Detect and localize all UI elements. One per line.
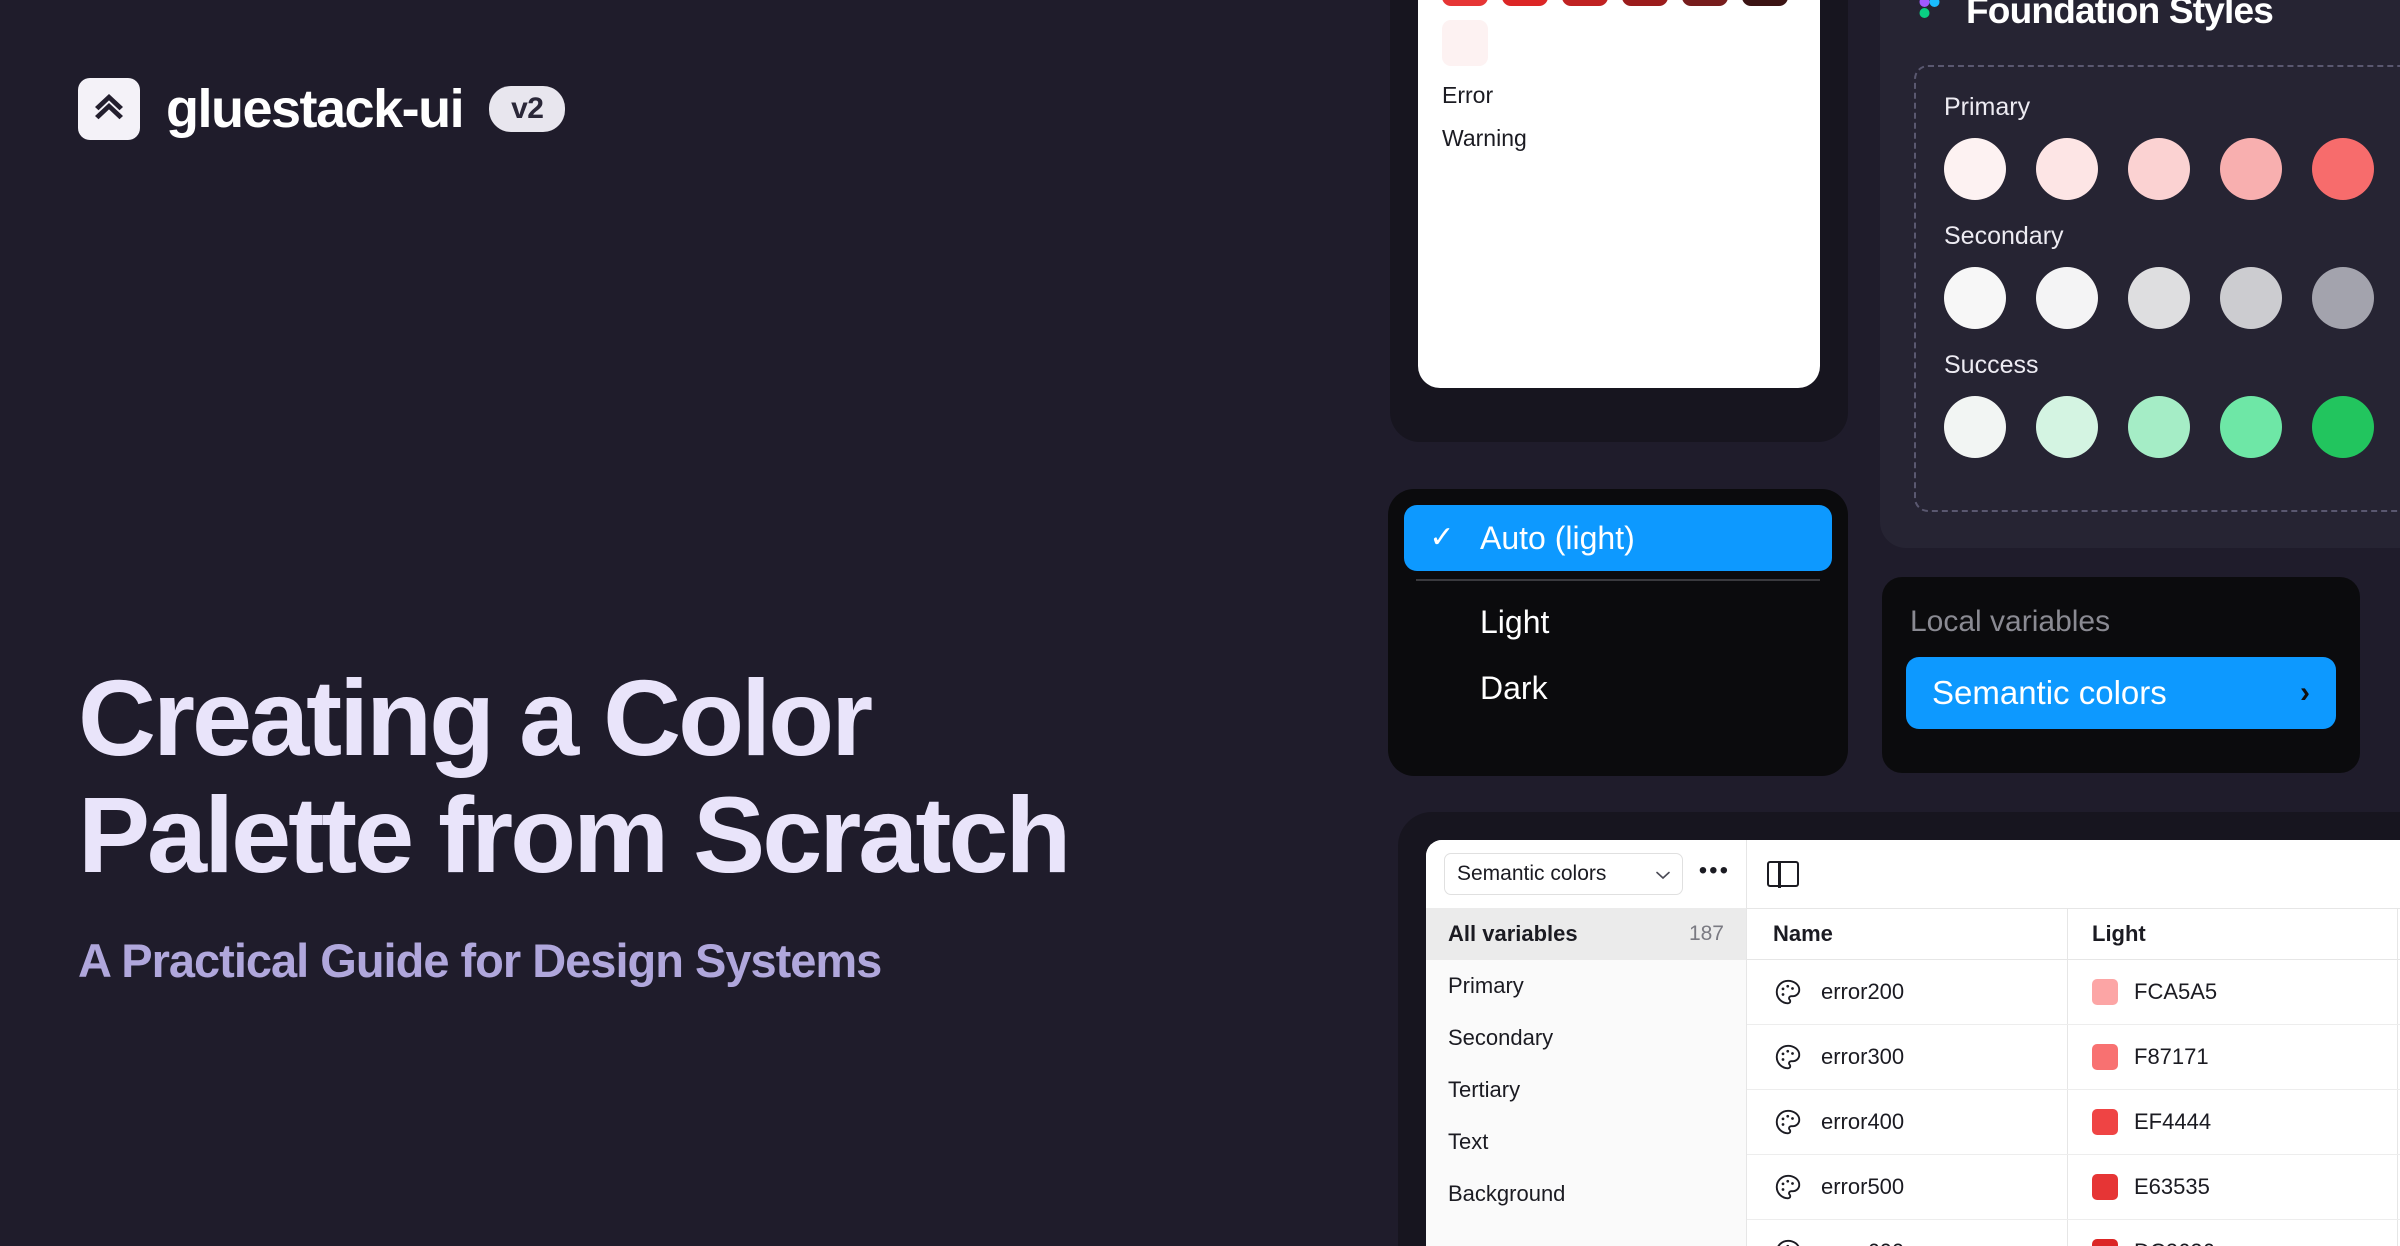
foundation-color-dot[interactable] (1944, 267, 2006, 329)
gluestack-logo-mark (78, 78, 140, 140)
cell-light: FCA5A5 (2067, 960, 2397, 1024)
swatch-card-shell: ErrorWarning (1390, 0, 1848, 442)
sidebar-item-label: Tertiary (1448, 1077, 1520, 1103)
swatch-group-label: Error (1442, 82, 1796, 109)
palette-icon (1773, 1172, 1803, 1202)
foundation-group-row (1944, 138, 2400, 200)
cell-name: error600 (1747, 1220, 2067, 1246)
local-variables-title: Local variables (1910, 605, 2332, 639)
poster-canvas: gluestack-ui v2 Creating a Color Palette… (0, 0, 2400, 1246)
theme-menu-item-label: Dark (1480, 670, 1548, 707)
variable-name-label: error500 (1821, 1174, 1904, 1200)
sidebar-item-primary[interactable]: Primary (1426, 960, 1746, 1012)
variables-sidebar-header: Semantic colors ••• (1426, 840, 1746, 908)
variable-name-label: error400 (1821, 1109, 1904, 1135)
table-body: error200FCA5A5error300F87171error400EF44… (1747, 960, 2400, 1246)
hex-value-label: F87171 (2134, 1044, 2209, 1070)
brand-name: gluestack-ui (166, 82, 463, 136)
cell-light: DC2626 (2067, 1220, 2397, 1246)
color-chip[interactable] (2092, 1239, 2118, 1246)
page-title-line-2: Palette from Scratch (78, 774, 1068, 895)
theme-menu-item-dark[interactable]: Dark (1404, 655, 1832, 721)
foundation-color-dot[interactable] (2036, 138, 2098, 200)
local-variables-card: Local variables Semantic colors › (1882, 577, 2360, 773)
brand-lockup: gluestack-ui v2 (78, 78, 565, 140)
panel-toggle-wrap (1747, 840, 2400, 908)
foundation-color-dot[interactable] (1944, 138, 2006, 200)
cell-light: F87171 (2067, 1025, 2397, 1089)
table-row[interactable]: error300F87171 (1747, 1025, 2400, 1090)
theme-menu-item-light[interactable]: Light (1404, 589, 1832, 655)
table-row[interactable]: error400EF4444 (1747, 1090, 2400, 1155)
foundation-color-dot[interactable] (2220, 396, 2282, 458)
foundation-color-dot[interactable] (2312, 267, 2374, 329)
swatch-row (1442, 0, 1796, 6)
swatch-row (1442, 20, 1796, 66)
version-badge: v2 (489, 86, 565, 132)
foundation-group-row (1944, 396, 2400, 458)
color-chip[interactable] (2092, 1044, 2118, 1070)
sidebar-item-label: Background (1448, 1181, 1565, 1207)
sidebar-item-secondary[interactable]: Secondary (1426, 1012, 1746, 1064)
variables-panel-shell: Semantic colors ••• (1398, 812, 2400, 1246)
foundation-group-row (1944, 267, 2400, 329)
foundation-color-dot[interactable] (2128, 267, 2190, 329)
theme-menu-item-label: Light (1480, 604, 1549, 641)
foundation-color-groups: PrimarySecondarySuccess (1914, 65, 2400, 512)
variable-name-label: error600 (1821, 1239, 1904, 1246)
foundation-color-dot[interactable] (2128, 396, 2190, 458)
variables-table: Name Light error200FCA5A5error300F87171e… (1746, 908, 2400, 1246)
chevron-right-icon: › (2300, 676, 2310, 710)
semantic-colors-button[interactable]: Semantic colors › (1906, 657, 2336, 729)
foundation-color-dot[interactable] (1944, 396, 2006, 458)
collection-select-value: Semantic colors (1457, 862, 1606, 886)
hex-value-label: FCA5A5 (2134, 979, 2217, 1005)
cell-name: error500 (1747, 1155, 2067, 1219)
collection-select[interactable]: Semantic colors (1444, 853, 1683, 895)
cell-name: error400 (1747, 1090, 2067, 1154)
sidebar-toggle-icon[interactable] (1767, 861, 1799, 887)
column-header-light: Light (2067, 909, 2397, 959)
variables-sidebar-nav: All variables187PrimarySecondaryTertiary… (1426, 908, 1746, 1246)
color-swatch-card: ErrorWarning (1418, 0, 1820, 388)
cell-name: error200 (1747, 960, 2067, 1024)
hex-value-label: EF4444 (2134, 1109, 2211, 1135)
foundation-color-dot[interactable] (2128, 138, 2190, 200)
sidebar-item-tertiary[interactable]: Tertiary (1426, 1064, 1746, 1116)
double-chevron-up-icon (89, 87, 129, 132)
variable-name-label: error200 (1821, 979, 1904, 1005)
page-title: Creating a Color Palette from Scratch (78, 660, 1308, 893)
collection-toolbar: Semantic colors ••• (1426, 840, 1746, 908)
semantic-colors-label: Semantic colors (1932, 674, 2167, 712)
page-title-line-1: Creating a Color (78, 657, 870, 778)
color-chip[interactable] (2092, 1174, 2118, 1200)
foundation-color-dot[interactable] (2220, 138, 2282, 200)
hex-value-label: E63535 (2134, 1174, 2210, 1200)
palette-icon (1773, 1107, 1803, 1137)
cell-name: error300 (1747, 1025, 2067, 1089)
sidebar-item-all-variables[interactable]: All variables187 (1426, 908, 1746, 960)
variables-body: All variables187PrimarySecondaryTertiary… (1426, 908, 2400, 1246)
palette-icon (1773, 1237, 1803, 1246)
foundation-styles-panel: Foundation Styles PrimarySecondarySucces… (1880, 0, 2400, 548)
color-chip[interactable] (2092, 979, 2118, 1005)
sidebar-item-background[interactable]: Background (1426, 1168, 1746, 1220)
figma-icon (1914, 0, 1944, 35)
sidebar-item-label: Primary (1448, 973, 1524, 999)
column-header-name: Name (1747, 909, 2067, 959)
foundation-group-label: Secondary (1944, 222, 2400, 251)
variables-table-header (1746, 840, 2400, 908)
theme-menu-item-label: Auto (light) (1480, 520, 1635, 557)
page-subtitle: A Practical Guide for Design Systems (78, 933, 1308, 988)
foundation-group-label: Success (1944, 351, 2400, 380)
theme-menu[interactable]: ✓Auto (light)LightDark (1388, 489, 1848, 776)
color-swatch[interactable] (1442, 0, 1488, 6)
foundation-color-dot[interactable] (2036, 396, 2098, 458)
variable-name-label: error300 (1821, 1044, 1904, 1070)
check-icon: ✓ (1404, 523, 1480, 553)
sidebar-item-label: Text (1448, 1129, 1488, 1155)
table-row[interactable]: error200FCA5A5 (1747, 960, 2400, 1025)
hero-text-block: Creating a Color Palette from Scratch A … (78, 660, 1308, 988)
palette-icon (1773, 1042, 1803, 1072)
variables-panel-header-row: Semantic colors ••• (1426, 840, 2400, 908)
table-row[interactable]: error500E63535 (1747, 1155, 2400, 1220)
foundation-color-dot[interactable] (2312, 396, 2374, 458)
table-header-row: Name Light (1747, 908, 2400, 960)
color-chip[interactable] (2092, 1109, 2118, 1135)
sidebar-item-label: Secondary (1448, 1025, 1553, 1051)
foundation-color-dot[interactable] (2036, 267, 2098, 329)
color-swatch[interactable] (1562, 0, 1608, 6)
color-swatch[interactable] (1742, 0, 1788, 6)
color-swatch[interactable] (1442, 20, 1488, 66)
theme-menu-item-auto-light[interactable]: ✓Auto (light) (1404, 505, 1832, 571)
cell-light: EF4444 (2067, 1090, 2397, 1154)
chevron-down-icon (1656, 862, 1670, 886)
foundation-group-label: Primary (1944, 93, 2400, 122)
color-swatch[interactable] (1682, 0, 1728, 6)
foundation-header: Foundation Styles (1914, 0, 2400, 35)
table-row[interactable]: error600DC2626 (1747, 1220, 2400, 1246)
sidebar-item-count: 187 (1689, 922, 1724, 946)
menu-divider (1416, 579, 1820, 581)
palette-icon (1773, 977, 1803, 1007)
foundation-color-dot[interactable] (2220, 267, 2282, 329)
foundation-color-dot[interactable] (2312, 138, 2374, 200)
more-horizontal-icon[interactable]: ••• (1699, 859, 1730, 889)
hex-value-label: DC2626 (2134, 1239, 2215, 1246)
sidebar-item-text[interactable]: Text (1426, 1116, 1746, 1168)
sidebar-item-label: All variables (1448, 921, 1578, 947)
local-variables-table-panel: Semantic colors ••• (1426, 840, 2400, 1246)
swatch-group-label: Warning (1442, 125, 1796, 152)
color-swatch[interactable] (1502, 0, 1548, 6)
cell-light: E63535 (2067, 1155, 2397, 1219)
color-swatch[interactable] (1622, 0, 1668, 6)
foundation-title: Foundation Styles (1966, 0, 2273, 32)
